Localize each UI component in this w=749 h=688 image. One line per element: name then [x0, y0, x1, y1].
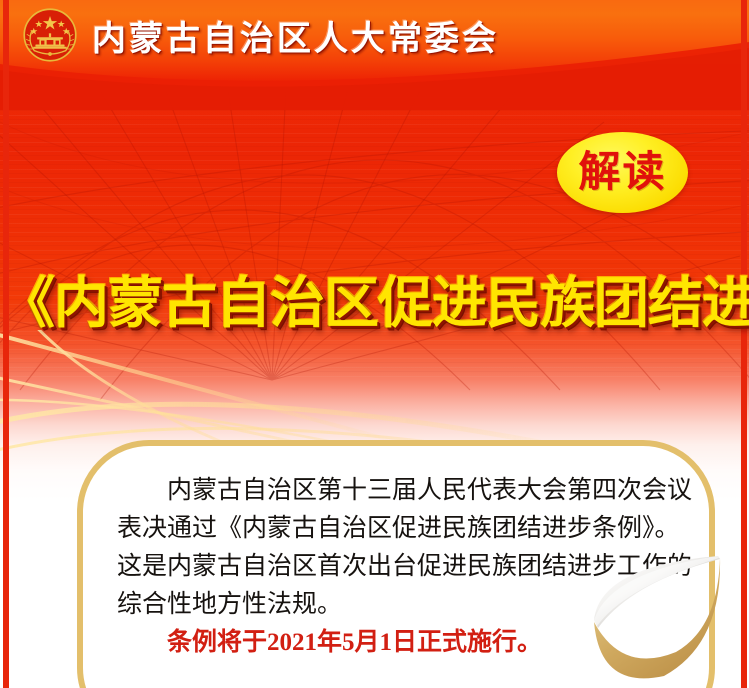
page-title: 《内蒙古自治区促进民族团结进步条例》 — [0, 258, 749, 338]
china-national-emblem-icon — [22, 7, 78, 63]
left-edge-stripe — [3, 0, 9, 688]
summary-line: 综合性地方性法规。 — [117, 586, 675, 624]
header-branding: 内蒙古自治区人大常委会 — [22, 7, 499, 63]
organization-title: 内蒙古自治区人大常委会 — [92, 11, 499, 60]
summary-card-body: 内蒙古自治区第十三届人民代表大会第四次会议 表决通过《内蒙古自治区促进民族团结进… — [83, 446, 709, 662]
poster-root: 内蒙古自治区人大常委会 解读 《内蒙古自治区促进民族团结进步条例》 内蒙古自治区… — [0, 0, 749, 688]
interpretation-badge-label: 解读 — [578, 152, 666, 194]
summary-card: 内蒙古自治区第十三届人民代表大会第四次会议 表决通过《内蒙古自治区促进民族团结进… — [77, 440, 715, 688]
summary-line: 这是内蒙古自治区首次出台促进民族团结进步工作的 — [117, 548, 675, 586]
interpretation-badge[interactable]: 解读 — [557, 132, 688, 213]
summary-line: 表决通过《内蒙古自治区促进民族团结进步条例》。 — [117, 510, 675, 548]
effective-date-line: 条例将于2021年5月1日正式施行。 — [117, 624, 675, 662]
summary-line: 内蒙古自治区第十三届人民代表大会第四次会议 — [117, 472, 675, 510]
right-edge-stripe — [741, 0, 747, 688]
